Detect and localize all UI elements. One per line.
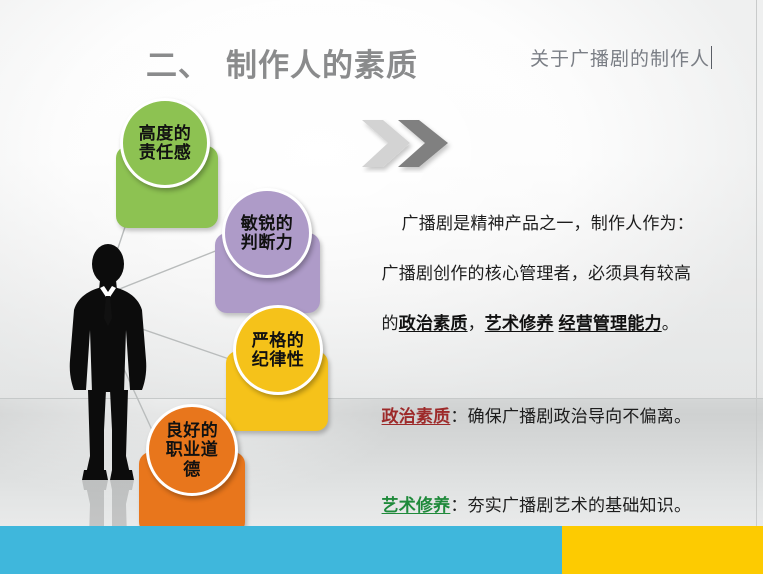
bubble-line: 判断力 <box>241 233 294 252</box>
bubble-line: 高度的 <box>139 124 192 143</box>
businessman-silhouette <box>70 244 147 480</box>
keyword-management-ability: 经营管理能力 <box>559 314 662 333</box>
bubble-disc: 良好的 职业道 德 <box>146 404 238 496</box>
definition-term: 政治素质 <box>382 407 451 426</box>
definition-political-quality: 政治素质：确保广播剧政治导向不偏离。 <box>352 379 752 454</box>
bubble-line: 责任感 <box>139 143 192 162</box>
bubble-disc: 高度的 责任感 <box>120 98 210 188</box>
footer-bar-cyan <box>0 526 562 574</box>
keyword-artistic-cultivation: 艺术修养 <box>485 314 554 333</box>
body-text-block: 广播剧是精神产品之一，制作人作为： 广播剧创作的核心管理者，必须具有较高 的政治… <box>352 186 752 574</box>
slide-canvas: 二、制作人的素质 关于广播剧的制作人 <box>0 0 763 574</box>
bubble-line: 严格的 <box>252 331 305 350</box>
intro-line-2: 广播剧创作的核心管理者，必须具有较高 <box>382 264 692 283</box>
definition-separator: ： <box>450 496 467 515</box>
bubble-disc: 严格的 纪律性 <box>233 305 323 395</box>
definition-term: 艺术修养 <box>382 496 451 515</box>
intro-paragraph: 广播剧是精神产品之一，制作人作为： 广播剧创作的核心管理者，必须具有较高 的政治… <box>352 186 752 361</box>
definition-text: 确保广播剧政治导向不偏离。 <box>468 407 692 426</box>
intro-line-1: 广播剧是精神产品之一，制作人作为： <box>402 214 694 233</box>
keyword-political-quality: 政治素质 <box>399 314 468 333</box>
bubble-disc: 敏锐的 判断力 <box>222 188 312 278</box>
footer-bar-yellow <box>562 526 763 574</box>
definition-text: 夯实广播剧艺术的基础知识。 <box>468 496 692 515</box>
bubble-line: 纪律性 <box>252 350 305 369</box>
definition-separator: ： <box>450 407 467 426</box>
bubble-line: 敏锐的 <box>241 214 294 233</box>
bubble-line: 德 <box>166 460 219 479</box>
footer-bars <box>0 526 763 574</box>
silhouette-reflection <box>70 480 147 526</box>
intro-line-3-suffix: 。 <box>662 314 679 333</box>
intro-line-3-prefix: 的 <box>382 314 399 333</box>
bubble-line: 良好的 <box>166 421 219 440</box>
bubble-line: 职业道 <box>166 440 219 459</box>
intro-separator-1: ， <box>468 314 485 333</box>
